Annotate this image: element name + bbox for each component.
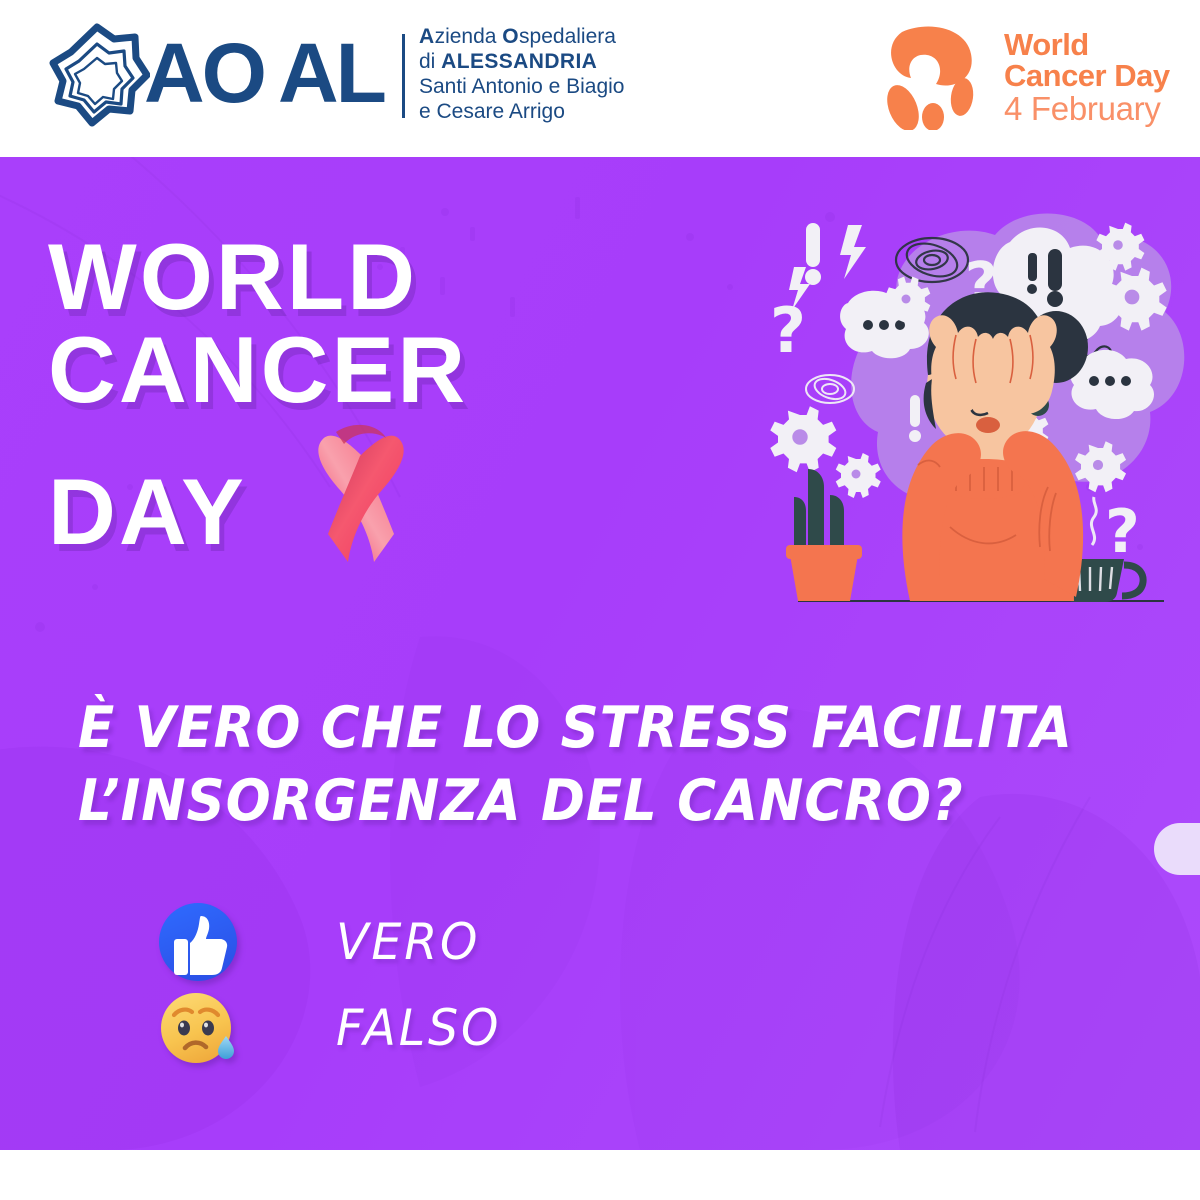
hospital-subtitle-line-1: Azienda Ospedaliera	[419, 25, 625, 50]
headline-line-1: WORLD	[48, 230, 468, 323]
hospital-wordmark-ao: AO	[144, 26, 264, 120]
right-edge-tab[interactable]	[1154, 823, 1200, 875]
top-banner: AOAL Azienda Ospedaliera di ALESSANDRIA …	[0, 0, 1200, 157]
headline-line-2: CANCER	[48, 323, 468, 416]
campaign-logo-text: World Cancer Day 4 February	[1004, 29, 1170, 126]
awareness-ribbon-icon	[300, 416, 422, 566]
answer-label-falso: FALSO	[336, 999, 501, 1057]
campaign-logo-line-2: Cancer Day	[1004, 60, 1170, 92]
page-title: WORLD CANCER DAY	[48, 230, 468, 558]
hospital-wordmark: AOAL	[144, 31, 384, 115]
hospital-wordmark-al: AL	[278, 26, 384, 120]
hospital-subtitle-line-4: e Cesare Arrigo	[419, 100, 625, 125]
world-cancer-day-poster: AOAL Azienda Ospedaliera di ALESSANDRIA …	[0, 0, 1200, 1200]
poster-body: ? ? ?	[0, 157, 1200, 1150]
hospital-subtitle: Azienda Ospedaliera di ALESSANDRIA Santi…	[419, 25, 625, 124]
crying-face-icon[interactable]	[158, 988, 238, 1068]
svg-text:?: ?	[1105, 497, 1140, 567]
answer-label-vero: VERO	[336, 913, 480, 971]
quiz-question-line-2: L’INSORGENZA DEL CANCRO?	[78, 765, 1082, 838]
aoal-star-icon	[44, 22, 150, 128]
campaign-logo-line-3: 4 February	[1004, 92, 1170, 126]
bottom-strip	[0, 1150, 1200, 1200]
hospital-subtitle-line-3: Santi Antonio e Biagio	[419, 75, 625, 100]
world-cancer-day-mark-icon	[884, 24, 988, 130]
answer-option-falso[interactable]: FALSO	[158, 985, 510, 1071]
thumbs-up-icon[interactable]	[158, 902, 238, 982]
hospital-logo: AOAL Azienda Ospedaliera di ALESSANDRIA …	[44, 22, 624, 128]
quiz-question: È VERO CHE LO STRESS FACILITA L’INSORGEN…	[78, 692, 1082, 838]
logo-divider	[402, 34, 405, 118]
campaign-logo: World Cancer Day 4 February	[884, 24, 1170, 130]
svg-text:?: ?	[770, 294, 806, 367]
headline-line-3: DAY	[48, 459, 245, 564]
hospital-subtitle-line-2: di ALESSANDRIA	[419, 50, 625, 75]
stressed-person-illustration: ? ? ?	[760, 197, 1200, 627]
headline-line-3-row: DAY	[48, 416, 468, 558]
quiz-question-line-1: È VERO CHE LO STRESS FACILITA	[78, 692, 1082, 765]
answer-option-vero[interactable]: VERO	[158, 899, 510, 985]
answer-options: VERO	[158, 899, 510, 1071]
campaign-logo-line-1: World	[1004, 29, 1170, 61]
